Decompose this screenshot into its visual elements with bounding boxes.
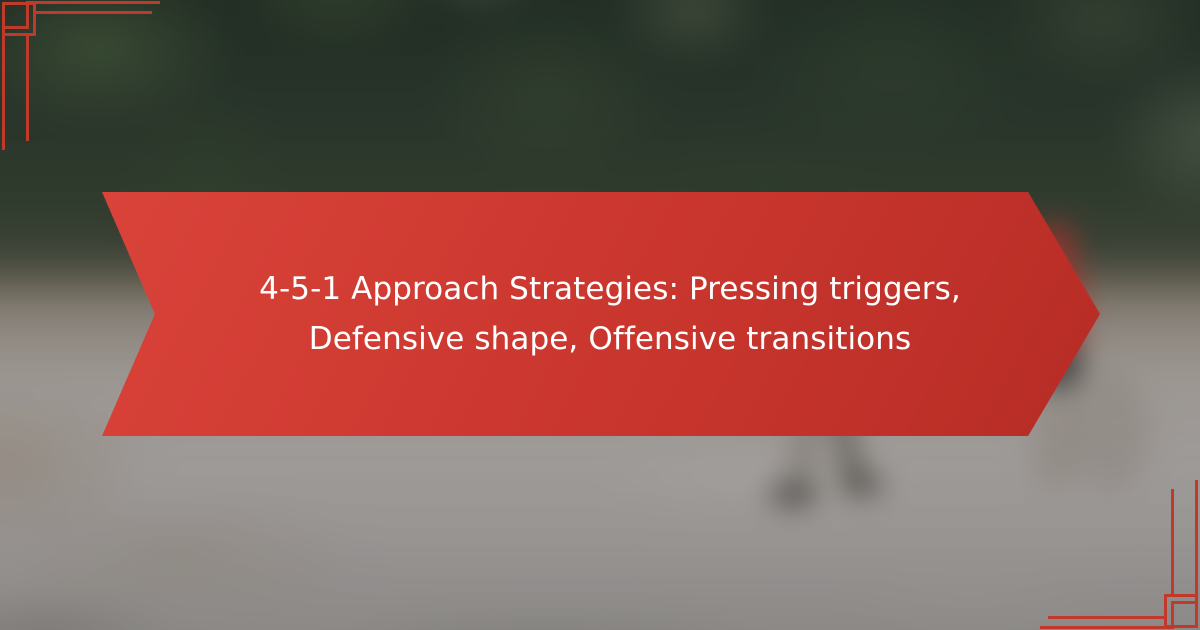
corner-outer-vertical-stub <box>26 1 29 29</box>
corner-inner-horizontal-line <box>1048 616 1164 619</box>
corner-outer-horizontal-line <box>28 1 160 4</box>
corner-square-top-left <box>2 2 36 36</box>
corner-elbow-horizontal-line <box>1171 601 1198 604</box>
social-card: 4-5-1 Approach Strategies: Pressing trig… <box>0 0 1200 630</box>
corner-square-bottom-right <box>1164 594 1198 628</box>
corner-inner-vertical-line <box>26 33 29 141</box>
banner-title: 4-5-1 Approach Strategies: Pressing trig… <box>215 264 1005 364</box>
corner-elbow-vertical-line <box>1195 480 1198 604</box>
headline-banner: 4-5-1 Approach Strategies: Pressing trig… <box>102 192 1100 436</box>
corner-outer-horizontal-line <box>1040 626 1172 629</box>
corner-inner-horizontal-line <box>36 11 152 14</box>
corner-outer-vertical-stub <box>1171 601 1174 629</box>
corner-elbow-horizontal-line <box>2 26 29 29</box>
corner-ornament-top-left <box>0 0 200 200</box>
corner-inner-vertical-line <box>1171 489 1174 597</box>
corner-ornament-bottom-right <box>1000 430 1200 630</box>
corner-elbow-vertical-line <box>2 26 5 150</box>
